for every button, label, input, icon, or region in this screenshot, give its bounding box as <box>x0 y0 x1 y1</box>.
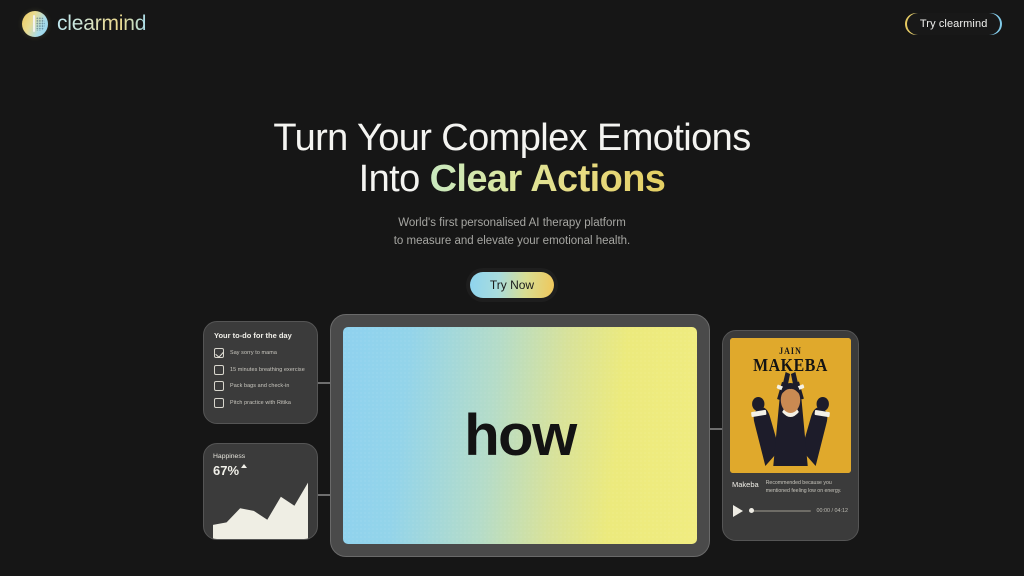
tablet-screen[interactable]: how <box>343 327 697 544</box>
brand-name: clearmind <box>57 12 146 36</box>
checkbox-icon[interactable] <box>214 398 224 408</box>
try-clearmind-button-label: Try clearmind <box>907 13 1001 35</box>
audio-player[interactable]: 00:00 / 04:12 <box>730 505 851 517</box>
checkbox-icon[interactable] <box>214 348 224 358</box>
todo-item[interactable]: Pitch practice with Ritika <box>214 398 307 408</box>
try-now-button[interactable]: Try Now <box>470 272 554 298</box>
tablet-screen-word: how <box>464 402 575 469</box>
playback-time: 00:00 / 04:12 <box>817 508 848 514</box>
happiness-area-chart <box>213 475 308 539</box>
checkbox-icon[interactable] <box>214 381 224 391</box>
music-card-meta: Makeba Recommended because you mentioned… <box>730 480 851 495</box>
site-header: clearmind Try clearmind <box>0 0 1024 48</box>
todo-item-label: Pack bags and check-in <box>230 383 289 389</box>
todo-item[interactable]: 15 minutes breathing exercise <box>214 365 307 375</box>
trend-up-arrow-icon <box>241 464 247 468</box>
hero-section: Turn Your Complex Emotions Into Clear Ac… <box>0 118 1024 298</box>
play-icon[interactable] <box>733 505 743 517</box>
todo-card[interactable]: Your to-do for the day Say sorry to mama… <box>203 321 318 424</box>
headline-line-1: Turn Your Complex Emotions <box>273 117 750 159</box>
headline-line-2-plain: Into <box>359 158 430 200</box>
progress-slider[interactable] <box>749 510 811 512</box>
headline-accent: Clear Actions <box>430 158 666 200</box>
todo-item[interactable]: Say sorry to mama <box>214 348 307 358</box>
album-poster: JAIN MAKEBA <box>730 338 851 473</box>
page-title: Turn Your Complex Emotions Into Clear Ac… <box>0 118 1024 199</box>
headline-line-2: Into Clear Actions <box>0 159 1024 200</box>
tablet-device[interactable]: how <box>330 314 710 557</box>
hero-subtitle-line-2: to measure and elevate your emotional he… <box>0 233 1024 250</box>
cta-container: Try Now <box>0 272 1024 298</box>
try-clearmind-button[interactable]: Try clearmind <box>905 13 1002 35</box>
album-poster-art: JAIN MAKEBA <box>730 338 851 473</box>
todo-item-label: 15 minutes breathing exercise <box>230 367 305 373</box>
svg-text:MAKEBA: MAKEBA <box>753 355 828 375</box>
happiness-card[interactable]: Happiness 67% <box>203 443 318 540</box>
hero-subtitle: World's first personalised AI therapy pl… <box>0 215 1024 250</box>
track-title: Makeba <box>732 480 759 495</box>
clearmind-circle-logo-icon <box>22 11 48 37</box>
happiness-chart-svg <box>213 475 308 539</box>
music-card[interactable]: JAIN MAKEBA Makeba Recommended because y… <box>722 330 859 541</box>
checkbox-icon[interactable] <box>214 365 224 375</box>
todo-card-title: Your to-do for the day <box>214 331 307 340</box>
brand-logo[interactable]: clearmind <box>22 11 146 37</box>
todo-item-label: Pitch practice with Ritika <box>230 400 291 406</box>
todo-item-label: Say sorry to mama <box>230 350 277 356</box>
happiness-card-title: Happiness <box>213 453 308 460</box>
todo-item[interactable]: Pack bags and check-in <box>214 381 307 391</box>
recommendation-text: Recommended because you mentioned feelin… <box>766 480 849 495</box>
hero-subtitle-line-1: World's first personalised AI therapy pl… <box>0 215 1024 232</box>
